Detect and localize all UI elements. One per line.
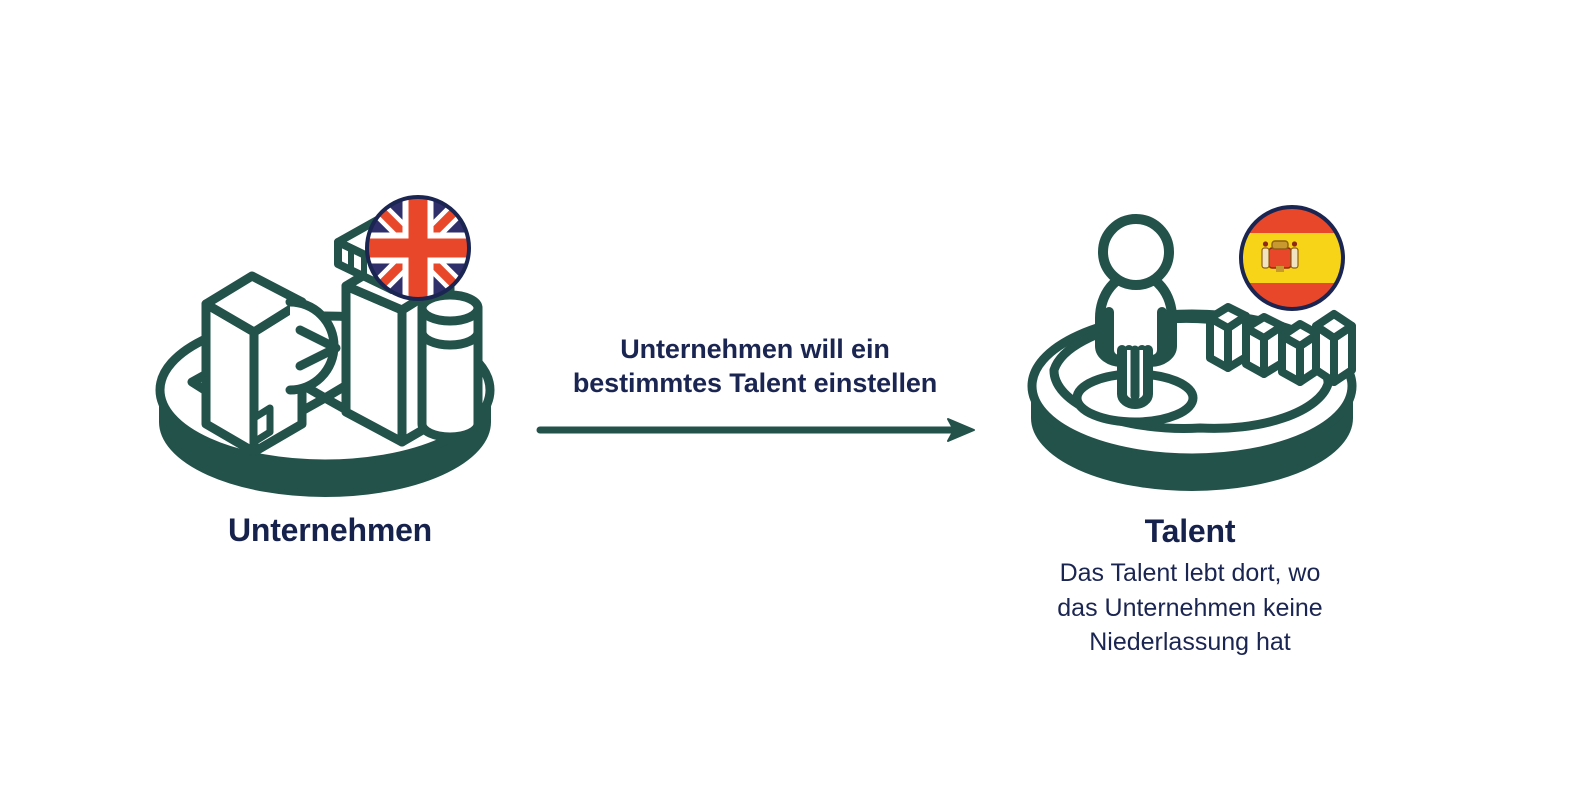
flow-caption: Unternehmen will ein bestimmtes Talent e… — [500, 332, 1010, 401]
arrow-right-icon — [500, 417, 1010, 443]
flow-center-block: Unternehmen will ein bestimmtes Talent e… — [500, 332, 1010, 443]
person-head — [1103, 219, 1169, 285]
talent-sublabel: Das Talent lebt dort, wo das Unternehmen… — [985, 556, 1395, 660]
spain-flag-badge — [1241, 207, 1343, 309]
company-illustration — [150, 180, 510, 500]
talent-label: Talent — [985, 512, 1395, 550]
spain-coat-of-arms — [1262, 241, 1298, 272]
person-on-disc-isometric-icon — [1010, 200, 1380, 500]
company-label: Unternehmen — [130, 512, 530, 549]
city-building-4-roof — [1316, 314, 1352, 338]
talent-label-block: Talent Das Talent lebt dort, wo das Unte… — [985, 512, 1395, 660]
flow-arrow — [500, 417, 1010, 443]
tower-cylinder-body — [422, 308, 478, 437]
building-left-door — [254, 408, 270, 442]
uk-flag-badge — [367, 197, 469, 299]
talent-illustration — [1010, 200, 1380, 500]
diagram-canvas: Unternehmen will ein bestimmtes Talent e… — [0, 0, 1587, 789]
city-buildings-isometric-icon — [150, 180, 510, 500]
